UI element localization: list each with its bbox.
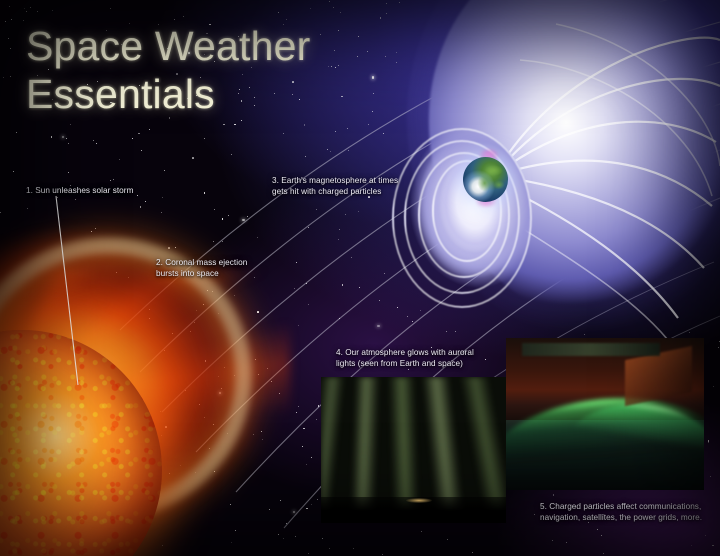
callout-sun-storm: 1. Sun unleashes solar storm xyxy=(26,185,133,196)
page-title: Space Weather Essentials xyxy=(26,22,310,118)
callout-aurora: 4. Our atmosphere glows with auroral lig… xyxy=(336,347,474,369)
aurora-from-earth-photo xyxy=(321,377,506,523)
spacecraft-structure xyxy=(522,343,661,357)
town-light xyxy=(406,498,432,503)
aurora-from-space-photo xyxy=(506,338,704,490)
space-weather-infographic: Space Weather Essentials 1. Sun unleashe… xyxy=(0,0,720,556)
callout-magnetosphere: 3. Earth's magnetosphere at times gets h… xyxy=(272,175,398,197)
callout-coronal-ejection: 2. Coronal mass ejection bursts into spa… xyxy=(156,257,247,279)
callout-impacts: 5. Charged particles affect communicatio… xyxy=(540,501,702,523)
